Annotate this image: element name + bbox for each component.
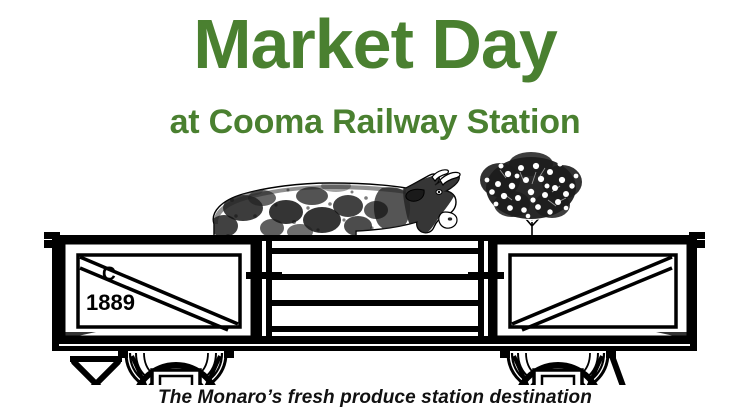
wagon-latch-right xyxy=(468,272,504,279)
page-subtitle: at Cooma Railway Station xyxy=(0,104,750,141)
page-tagline: The Monaro’s fresh produce station desti… xyxy=(0,388,750,409)
brake-linkage-left xyxy=(74,362,118,385)
cow-figure xyxy=(210,170,460,240)
cow-muzzle xyxy=(439,212,457,228)
wagon-marking-letter: C xyxy=(102,264,116,285)
wagon-right-running-gear xyxy=(500,349,636,385)
wagon-left-running-gear xyxy=(70,349,234,385)
wagon-latch-left xyxy=(246,272,282,279)
wagon-right-panel xyxy=(494,241,690,339)
wagon-centre-drop-side xyxy=(246,238,504,340)
wagon-floor-beam xyxy=(52,336,697,344)
poster-canvas: Market Day at Cooma Railway Station xyxy=(0,0,750,420)
wagon-marking-year: 1889 xyxy=(86,290,135,315)
flowering-bush xyxy=(480,152,582,238)
wagon-centre-rails xyxy=(272,248,478,332)
wagon-solebar xyxy=(52,346,697,351)
railway-wagon: C 1889 xyxy=(44,232,705,385)
bush-foliage xyxy=(480,152,582,220)
wagon-illustration: C 1889 xyxy=(0,150,750,385)
wagon-left-panel: C 1889 xyxy=(62,241,254,339)
wagon-illustration-svg: C 1889 xyxy=(0,150,750,385)
page-title: Market Day xyxy=(0,8,750,82)
